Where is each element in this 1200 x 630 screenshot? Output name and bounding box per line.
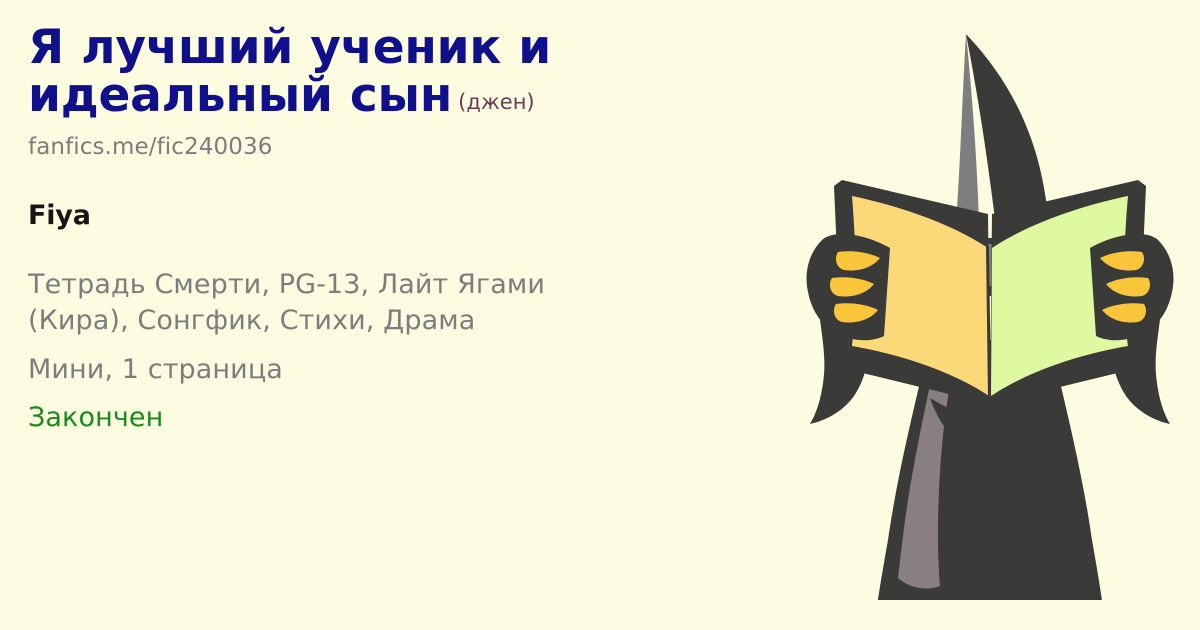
- meta-line-size: Мини, 1 страница: [28, 352, 818, 388]
- source-url[interactable]: fanfics.me/fic240036: [28, 134, 818, 160]
- preview-card: Я лучший ученик и идеальный сын(джен) fa…: [0, 0, 1200, 630]
- page-title: Я лучший ученик и идеальный сын(джен): [28, 24, 818, 120]
- meta-line-genres: (Кира), Сонгфик, Стихи, Драма: [28, 303, 818, 339]
- left-hand: [807, 234, 890, 340]
- metadata-block: Тетрадь Смерти, PG-13, Лайт Ягами (Кира)…: [28, 267, 818, 436]
- title-suffix: (джен): [458, 90, 534, 114]
- text-column: Я лучший ученик и идеальный сын(джен) fa…: [28, 24, 818, 435]
- meta-line-fandom: Тетрадь Смерти, PG-13, Лайт Ягами: [28, 267, 818, 303]
- status-badge: Закончен: [28, 400, 818, 436]
- witch-reading-book-illustration: [780, 0, 1200, 630]
- author-name[interactable]: Fiya: [28, 200, 818, 231]
- right-hand: [1090, 234, 1173, 340]
